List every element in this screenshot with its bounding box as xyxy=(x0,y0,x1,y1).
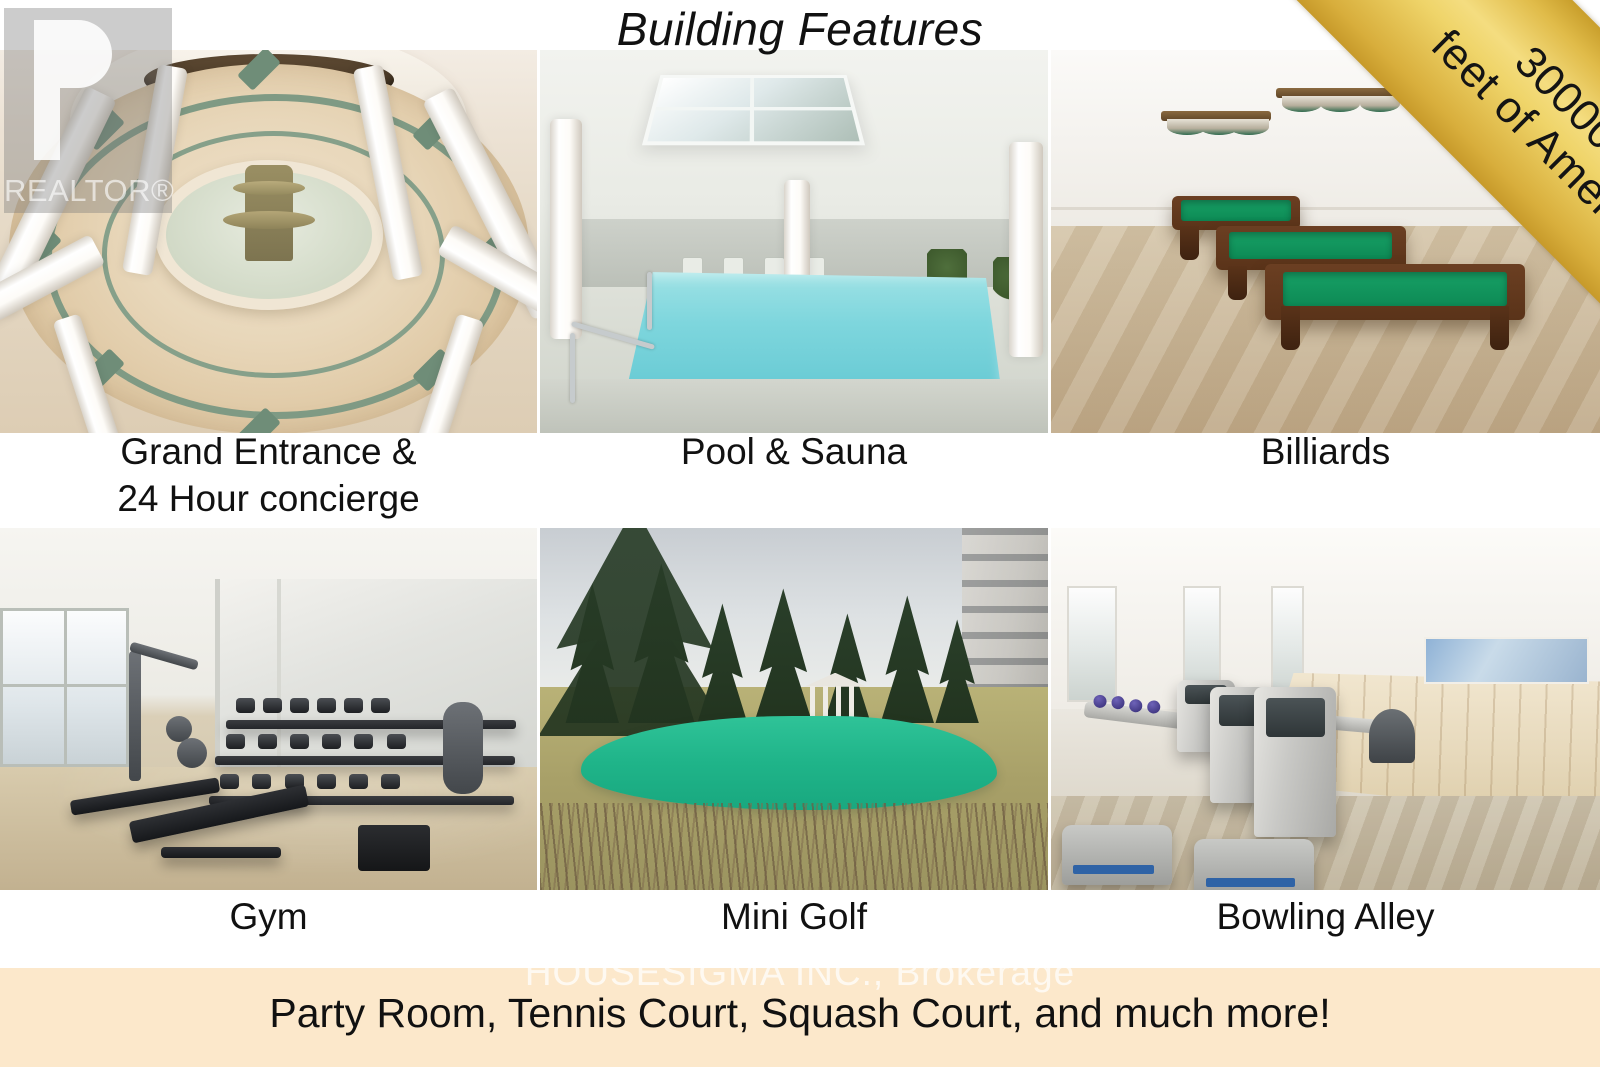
dumbbell xyxy=(290,734,309,749)
scoring-console xyxy=(1254,687,1336,837)
weight-plate xyxy=(177,738,207,768)
feature-photo-mini-golf xyxy=(540,528,1048,890)
gazebo-icon xyxy=(804,673,866,721)
lobby-image xyxy=(0,50,537,433)
dumbbell xyxy=(354,734,373,749)
seating-chair xyxy=(1062,825,1172,885)
pool-handrail xyxy=(570,333,575,403)
caption-billiards: Billiards xyxy=(1051,428,1600,475)
billiards-image xyxy=(1051,50,1600,433)
lane-backdrop-graphic xyxy=(1424,637,1589,684)
dumbbell xyxy=(371,698,390,713)
pool-image xyxy=(540,50,1048,433)
dumbbell xyxy=(252,774,271,789)
caption-grand-entrance: Grand Entrance & 24 Hour concierge xyxy=(0,428,537,523)
evergreen-tree xyxy=(875,595,939,723)
storage-bin xyxy=(358,825,430,871)
feature-photo-grand-entrance xyxy=(0,50,537,433)
pendant-light-icon xyxy=(1161,111,1271,121)
punching-bag xyxy=(443,702,483,794)
bowling-image xyxy=(1051,528,1600,890)
dumbbell xyxy=(220,774,239,789)
dumbbell xyxy=(290,698,309,713)
gym-mirror-wall xyxy=(215,579,537,782)
page-title: Building Features xyxy=(0,2,1600,56)
feature-photo-gym xyxy=(0,528,537,890)
ball-lift xyxy=(1369,709,1415,763)
feature-photo-bowling-alley xyxy=(1051,528,1600,890)
dumbbell xyxy=(381,774,400,789)
mini-golf-image xyxy=(540,528,1048,890)
seating-chair xyxy=(1194,839,1314,890)
column xyxy=(550,119,582,339)
pool-table xyxy=(1172,196,1300,230)
column xyxy=(1009,142,1043,357)
pendant-light-icon xyxy=(1276,88,1406,98)
dumbbell xyxy=(344,698,363,713)
building-features-flyer: Building Features xyxy=(0,0,1600,1067)
dumbbell xyxy=(317,774,336,789)
caption-gym: Gym xyxy=(0,893,537,940)
bench-base xyxy=(161,847,281,858)
caption-pool-sauna: Pool & Sauna xyxy=(540,428,1048,475)
dumbbell xyxy=(317,698,336,713)
feature-photo-pool-sauna xyxy=(540,50,1048,433)
fountain-icon xyxy=(245,165,293,261)
evergreen-tree xyxy=(931,619,983,723)
dumbbell xyxy=(258,734,277,749)
cable-machine xyxy=(129,651,141,781)
pendant-light-icon xyxy=(1391,65,1541,75)
dumbbell xyxy=(226,734,245,749)
dumbbell xyxy=(236,698,255,713)
footer-text: Party Room, Tennis Court, Squash Court, … xyxy=(0,990,1600,1037)
dumbbell xyxy=(263,698,282,713)
footer-banner: Party Room, Tennis Court, Squash Court, … xyxy=(0,968,1600,1067)
dumbbell xyxy=(322,734,341,749)
dumbbell xyxy=(349,774,368,789)
pool-table xyxy=(1265,264,1525,320)
dry-brush-foreground xyxy=(540,803,1048,890)
gym-window xyxy=(0,608,129,767)
feature-photo-billiards xyxy=(1051,50,1600,433)
dumbbell xyxy=(387,734,406,749)
pool-deck xyxy=(540,379,1048,433)
bowling-window xyxy=(1067,586,1116,702)
skylight-icon xyxy=(642,75,865,145)
caption-mini-golf: Mini Golf xyxy=(540,893,1048,940)
pool-ladder-rail xyxy=(647,272,652,330)
caption-bowling-alley: Bowling Alley xyxy=(1051,893,1600,940)
gym-image xyxy=(0,528,537,890)
